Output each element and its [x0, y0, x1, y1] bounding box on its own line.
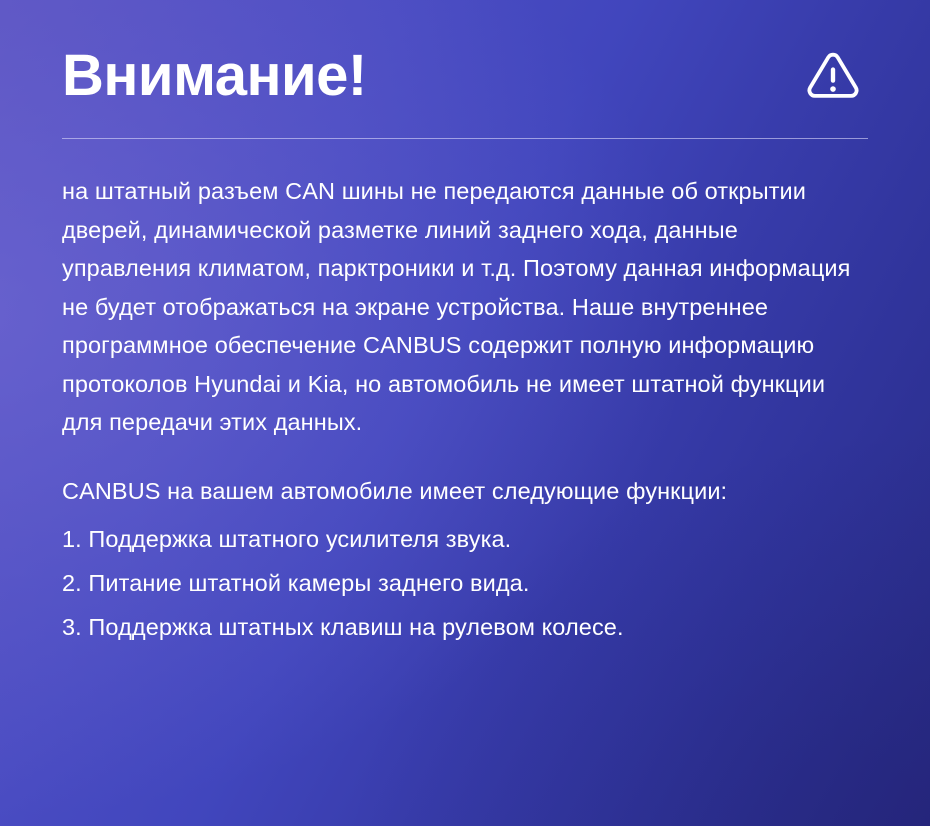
features-intro: CANBUS на вашем автомобиле имеет следующ…	[62, 472, 868, 511]
banner-body: на штатный разъем CAN шины не передаются…	[62, 172, 868, 649]
list-item: 2. Питание штатной камеры заднего вида.	[62, 561, 868, 605]
header-divider	[62, 138, 868, 139]
list-item: 3. Поддержка штатных клавиш на рулевом к…	[62, 605, 868, 649]
feature-list: 1. Поддержка штатного усилителя звука. 2…	[62, 517, 868, 649]
warning-triangle-icon	[804, 47, 862, 105]
banner-header: Внимание!	[62, 0, 868, 105]
notice-paragraph: на штатный разъем CAN шины не передаются…	[62, 172, 868, 442]
banner-content: Внимание! на штатный разъем CAN шины не …	[0, 0, 930, 826]
list-item: 1. Поддержка штатного усилителя звука.	[62, 517, 868, 561]
page-title: Внимание!	[62, 47, 367, 105]
warning-banner: Внимание! на штатный разъем CAN шины не …	[0, 0, 930, 826]
features-section: CANBUS на вашем автомобиле имеет следующ…	[62, 472, 868, 650]
